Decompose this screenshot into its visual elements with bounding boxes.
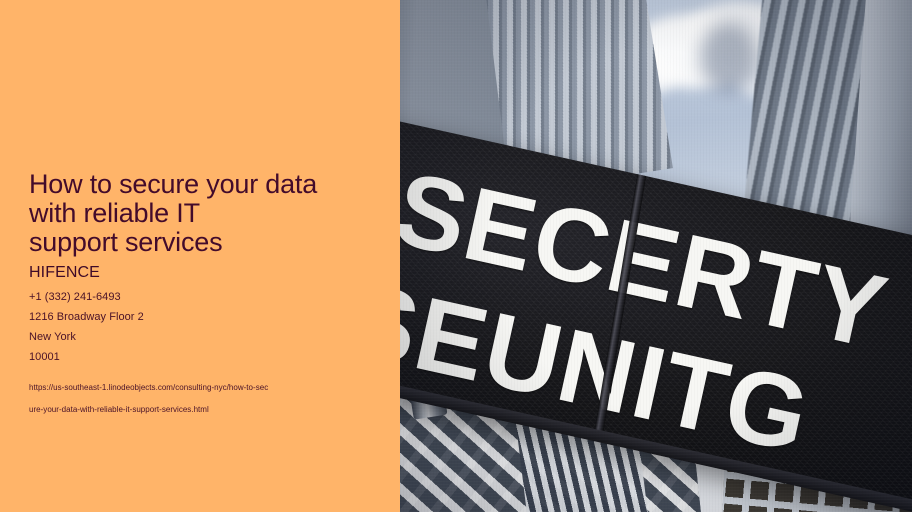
article-url[interactable]: https://us-southeast-1.linodeobjects.com…: [29, 377, 389, 421]
cloud-shadow: [700, 22, 758, 92]
article-hero-image: SECERTY SEUNITG: [400, 0, 912, 512]
company-street-address: 1216 Broadway Floor 2: [29, 307, 389, 327]
company-phone[interactable]: +1 (332) 241-6493: [29, 287, 389, 307]
text-content-block: How to secure your data with reliable IT…: [29, 170, 389, 421]
company-city: New York: [29, 327, 389, 347]
left-info-panel: How to secure your data with reliable IT…: [0, 0, 400, 512]
article-preview-card: How to secure your data with reliable IT…: [0, 0, 912, 512]
company-name: HIFENCE: [29, 263, 389, 283]
article-url-line-1[interactable]: https://us-southeast-1.linodeobjects.com…: [29, 377, 389, 399]
article-url-line-2[interactable]: ure-your-data-with-reliable-it-support-s…: [29, 399, 389, 421]
company-postal-code: 10001: [29, 347, 389, 367]
page-title: How to secure your data with reliable IT…: [29, 170, 389, 257]
